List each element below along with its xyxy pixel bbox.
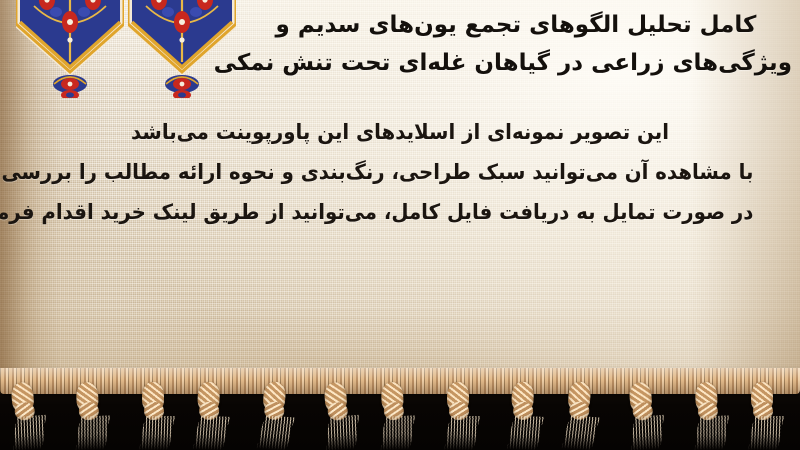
- fringe-tassel: [2, 378, 53, 450]
- slide-title-line-2: ویژگی‌های زراعی در گیاهان غله‌ای تحت تنش…: [240, 44, 792, 82]
- slide-body-text: این تصویر نمونه‌ای از اسلایدهای این پاور…: [24, 112, 776, 232]
- fringe-tassel: [373, 379, 422, 450]
- fringe-tassel: [439, 380, 485, 450]
- fringe-tassel: [556, 378, 607, 450]
- tassel-threads: [748, 416, 784, 450]
- body-line-2: با مشاهده آن می‌توانید سبک طراحی، رنگ‌بن…: [47, 152, 754, 192]
- fringe-tassel: [502, 379, 551, 450]
- fringe-tassel: [316, 378, 367, 450]
- tassel-threads: [561, 415, 599, 450]
- tassel-threads: [326, 415, 359, 450]
- fringe-tassel: [68, 379, 117, 450]
- slide-title-line-1: کامل تحلیل الگوهای تجمع یون‌های سدیم و: [240, 6, 792, 44]
- carpet-fringe-tassels: [0, 380, 800, 450]
- fringe-tassel: [621, 378, 672, 450]
- fringe-tassel: [134, 380, 180, 450]
- fringe-tassel: [188, 379, 237, 450]
- slide-canvas: کامل تحلیل الگوهای تجمع یون‌های سدیم و و…: [0, 0, 800, 450]
- fringe-tassel: [686, 379, 735, 450]
- tassel-threads: [631, 415, 664, 450]
- tassel-threads: [694, 415, 729, 450]
- tassel-threads: [193, 416, 230, 450]
- body-line-3: در صورت تمایل به دریافت فایل کامل، می‌تو…: [47, 192, 754, 232]
- tassel-threads: [507, 416, 544, 450]
- tassel-threads: [256, 415, 294, 450]
- tassel-threads: [444, 416, 480, 450]
- tassel-threads: [380, 415, 415, 450]
- ornament-pendant: [165, 75, 199, 98]
- fringe-tassel: [743, 380, 789, 450]
- tassel-threads: [139, 416, 175, 450]
- persian-illumination-medallion-icon: [14, 0, 126, 98]
- ornament-pendant: [53, 75, 87, 98]
- fringe-tassel: [251, 378, 302, 450]
- body-line-1: این تصویر نمونه‌ای از اسلایدهای این پاور…: [47, 112, 754, 152]
- tassel-threads: [76, 415, 111, 450]
- slide-title: کامل تحلیل الگوهای تجمع یون‌های سدیم و و…: [240, 6, 792, 82]
- tassel-threads: [13, 415, 46, 450]
